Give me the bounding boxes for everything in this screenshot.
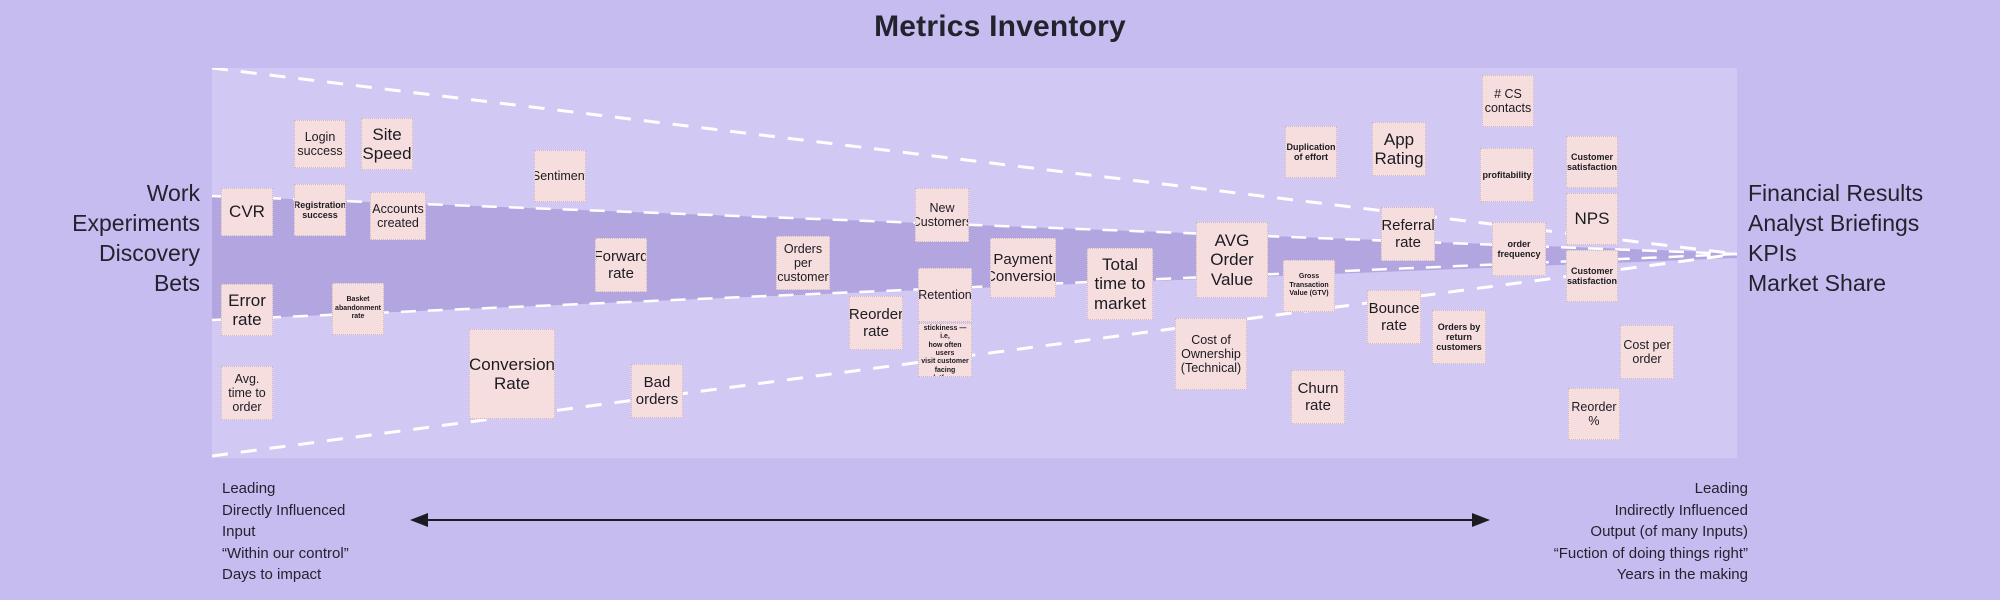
bottom-right-line-4: Years in the making [1554,564,1748,586]
sticky-note-label: # CS contacts [1485,87,1532,116]
sticky-note[interactable]: New Customers [915,188,969,242]
sticky-note-label: Gross Transaction Value (GTV) [1289,273,1328,298]
sticky-note-label: Site Speed [362,125,411,164]
sticky-note[interactable]: Cost of Ownership (Technical) [1175,318,1247,390]
sticky-note-label: Churn rate [1298,380,1339,414]
sticky-note[interactable]: Gross Transaction Value (GTV) [1283,260,1335,312]
sticky-note[interactable]: Reorder rate [849,296,903,350]
sticky-note[interactable]: Orders by return customers [1432,310,1486,364]
sticky-note-label: Basket abandonment rate [335,296,381,321]
sticky-note-label: NPS [1575,209,1610,228]
left-axis-line-2: Discovery [0,238,200,268]
sticky-note-label: Retention [918,288,972,302]
left-axis-labels: WorkExperimentsDiscoveryBets [0,178,200,298]
spectrum-arrow [410,505,1490,535]
sticky-note-label: Cost of Ownership (Technical) [1181,333,1241,376]
right-axis-line-2: KPIs [1748,238,1998,268]
sticky-note-label: Reorder rate [849,306,903,340]
sticky-note[interactable]: order frequency [1492,222,1546,276]
sticky-note-label: App Rating [1374,130,1423,169]
bottom-right-line-0: Leading [1554,478,1748,500]
sticky-note[interactable]: Basket abandonment rate [332,283,384,335]
sticky-note-label: CVR [229,202,265,221]
sticky-note-label: Reorder % [1571,400,1616,429]
sticky-note-label: Bad orders [636,374,679,408]
sticky-note-label: Orders by return customers [1436,322,1482,353]
right-axis-line-1: Analyst Briefings [1748,208,1998,238]
sticky-note-label: Referral rate [1381,217,1434,251]
sticky-note-label: Bounce rate [1369,300,1420,334]
left-axis-line-3: Bets [0,268,200,298]
sticky-note[interactable]: Conversion Rate [469,329,555,419]
sticky-note[interactable]: Sentiment [534,150,586,202]
sticky-note-label: profitability [1483,170,1532,180]
sticky-note[interactable]: Site Speed [361,118,413,170]
sticky-note[interactable]: Cost per order [1620,325,1674,379]
sticky-note-label: New Customers [915,201,969,230]
bottom-left-line-3: “Within our control” [222,543,349,565]
double-headed-arrow-icon [410,505,1490,535]
bottom-left-annotation: LeadingDirectly InfluencedInput“Within o… [222,478,349,586]
sticky-note[interactable]: Login success [294,120,346,168]
bottom-right-line-2: Output (of many Inputs) [1554,521,1748,543]
sticky-note[interactable]: Registration success [294,184,346,236]
sticky-note[interactable]: CVR [221,188,273,236]
sticky-note-label: Forward rate [595,248,647,282]
left-axis-line-0: Work [0,178,200,208]
sticky-note[interactable]: Error rate [221,284,273,336]
sticky-note[interactable]: Total time to market [1087,248,1153,320]
sticky-note[interactable]: Churn rate [1291,370,1345,424]
sticky-note[interactable]: Duplication of effort [1285,126,1337,178]
sticky-note[interactable]: Reorder % [1568,388,1620,440]
bottom-right-line-3: “Fuction of doing things right” [1554,543,1748,565]
sticky-note[interactable]: Bad orders [631,364,683,418]
left-axis-line-1: Experiments [0,208,200,238]
sticky-note[interactable]: App Rating [1372,122,1426,176]
sticky-note[interactable]: Forward rate [595,238,647,292]
sticky-note-label: Cost per order [1623,338,1670,367]
sticky-note-label: order frequency [1497,239,1540,260]
sticky-note[interactable]: Retention [918,268,972,322]
sticky-note[interactable]: Accounts created [370,192,426,240]
sticky-note-label: Payment Conversion [990,251,1056,285]
bottom-left-line-0: Leading [222,478,349,500]
sticky-note-label: AVG Order Value [1210,231,1253,289]
sticky-note-label: Duplication of effort [1287,142,1336,163]
sticky-note-label: Customer satisfaction [1567,266,1617,287]
sticky-note-label: Conversion Rate [469,355,555,394]
bottom-right-line-1: Indirectly Influenced [1554,500,1748,522]
sticky-note[interactable]: NPS [1566,193,1618,245]
sticky-note-label: Registration success [294,200,346,221]
sticky-note[interactable]: Payment Conversion [990,238,1056,298]
sticky-note[interactable]: Platform stickiness — i.e, how often use… [918,323,972,377]
sticky-note[interactable]: Customer satisfaction [1566,250,1618,302]
sticky-note[interactable]: AVG Order Value [1196,222,1268,298]
sticky-note[interactable]: Bounce rate [1367,290,1421,344]
bottom-left-line-4: Days to impact [222,564,349,586]
sticky-note-label: Accounts created [372,202,423,231]
sticky-note-label: Login success [297,130,342,159]
sticky-note[interactable]: profitability [1480,148,1534,202]
sticky-note[interactable]: Customer satisfaction [1566,136,1618,188]
sticky-note-label: Error rate [228,291,266,330]
sticky-note-label: Customer satisfaction [1567,152,1617,173]
sticky-note-label: Total time to market [1094,255,1146,313]
diagram-stage: Metrics Inventory CVRLogin successSite S… [0,0,2000,600]
sticky-note-label: Avg. time to order [228,372,266,415]
sticky-note-label: Orders per customer [777,242,828,285]
sticky-note[interactable]: Orders per customer [776,236,830,290]
right-axis-line-3: Market Share [1748,268,1998,298]
bottom-left-line-2: Input [222,521,349,543]
sticky-note-label: Sentiment [534,169,586,183]
right-axis-labels: Financial ResultsAnalyst BriefingsKPIsMa… [1748,178,1998,298]
bottom-right-annotation: LeadingIndirectly InfluencedOutput (of m… [1554,478,1748,586]
bottom-left-line-1: Directly Influenced [222,500,349,522]
sticky-note-label: Platform stickiness — i.e, how often use… [921,323,969,377]
sticky-note[interactable]: # CS contacts [1482,75,1534,127]
metrics-canvas: CVRLogin successSite SpeedRegistration s… [212,68,1737,458]
page-title: Metrics Inventory [0,10,2000,44]
right-axis-line-0: Financial Results [1748,178,1998,208]
sticky-note[interactable]: Referral rate [1381,207,1435,261]
sticky-note[interactable]: Avg. time to order [221,366,273,420]
